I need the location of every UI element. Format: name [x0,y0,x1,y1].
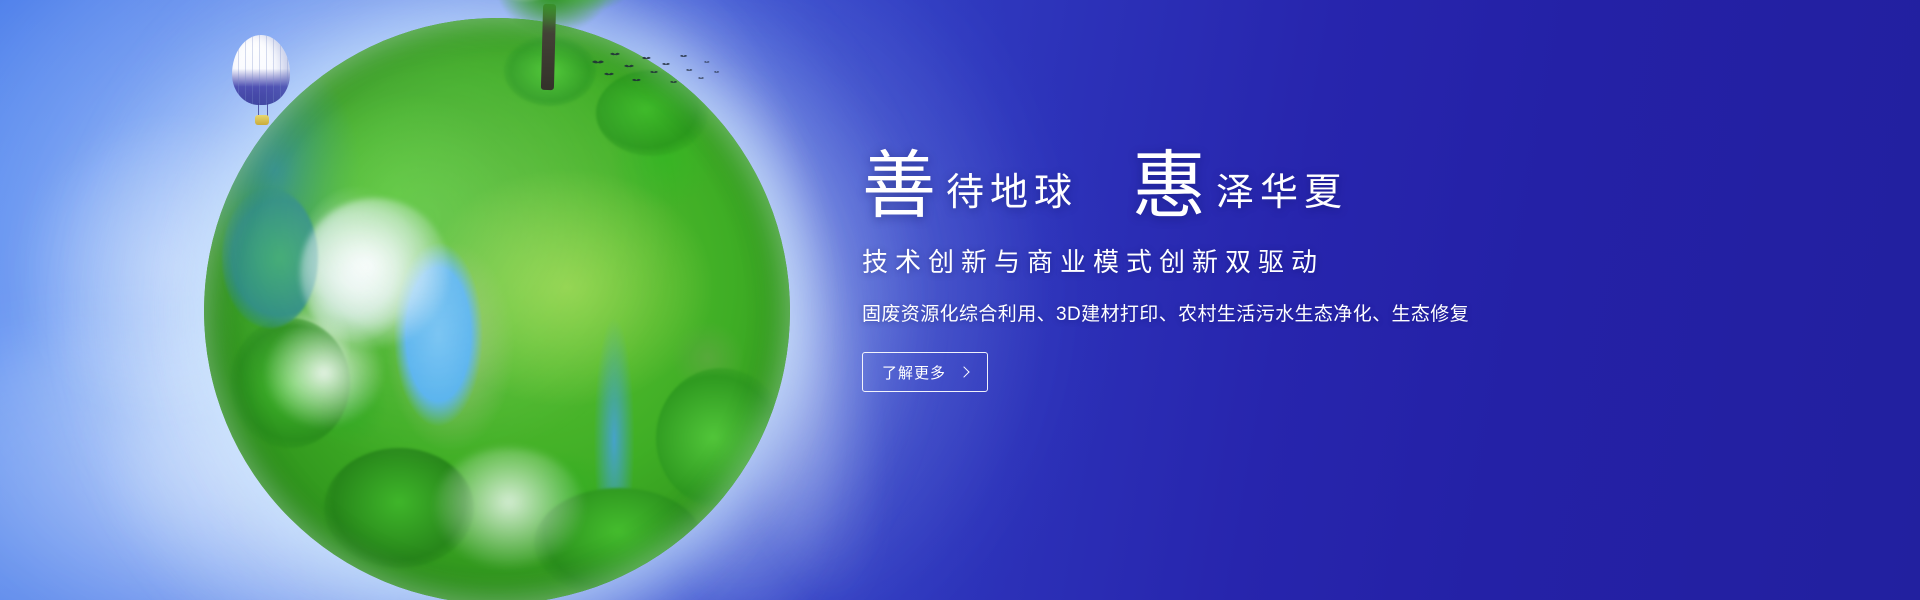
globe-surface [204,18,790,600]
hero-description: 固废资源化综合利用、3D建材打印、农村生活污水生态净化、生态修复 [862,299,1562,326]
learn-more-label: 了解更多 [882,362,946,383]
globe [204,18,790,600]
hero-banner: 善 待地球 惠 泽华夏 技术创新与商业模式创新双驱动 固废资源化综合利用、3D建… [0,0,1920,600]
chevron-right-icon [958,366,969,377]
learn-more-button[interactable]: 了解更多 [862,352,988,392]
headline-part1-big: 善 [862,151,936,224]
hero-subtitle: 技术创新与商业模式创新双驱动 [862,242,1562,279]
globe-artwork [152,0,842,600]
hero-text-block: 善 待地球 惠 泽华夏 技术创新与商业模式创新双驱动 固废资源化综合利用、3D建… [862,126,1562,392]
headline-part1-small: 待地球 [946,174,1078,212]
headline-part2-big: 惠 [1132,151,1206,224]
page-title: 善 待地球 惠 泽华夏 [862,126,1562,222]
headline-part2-small: 泽华夏 [1216,174,1348,212]
